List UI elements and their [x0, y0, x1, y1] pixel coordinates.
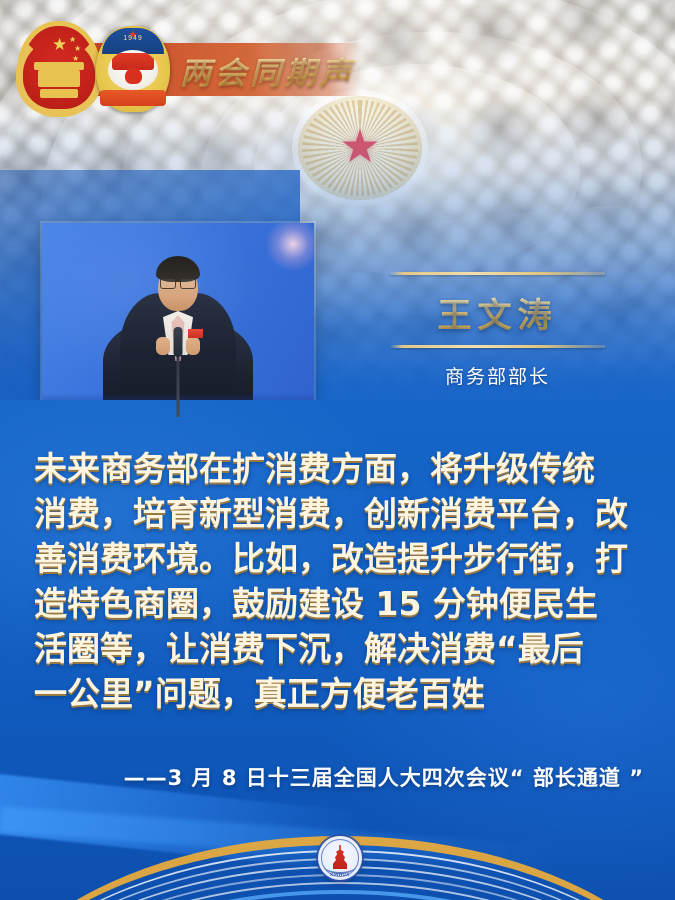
cppcc-emblem-icon: 1949: [96, 26, 170, 112]
banner-title: 两会同期声: [180, 48, 355, 93]
photo-glasses: [160, 278, 196, 287]
xinhua-logo-text: XINHUA: [318, 872, 362, 877]
national-emblem-icon: ★ ★ ★ ★ ★: [22, 26, 96, 112]
name-divider-bottom: [390, 345, 605, 348]
microphone-icon: [174, 327, 183, 357]
xinhua-logo-icon: XINHUA: [318, 836, 362, 880]
quote-line: 一公里”问题，真正方便老百姓: [34, 671, 644, 716]
quote-line: 活圈等，让消费下沉，解决消费“最后: [34, 626, 644, 671]
speaker-title: 商务部部长: [390, 362, 605, 389]
quote-line: 造特色商圈，鼓励建设 15 分钟便民生: [34, 581, 644, 626]
delegate-badge: [188, 329, 203, 338]
quote-line: 未来商务部在扩消费方面，将升级传统: [34, 446, 644, 491]
photo-right-hand: [186, 337, 200, 355]
quote-block: 未来商务部在扩消费方面，将升级传统 消费，培育新型消费，创新消费平台，改 善消费…: [34, 446, 644, 716]
quote-attribution: ——3 月 8 日十三届全国人大四次会议“ 部长通道 ”: [34, 762, 644, 792]
poster-root: ★ ★ ★ ★ ★ ★ 1949 两会同期声: [0, 0, 675, 900]
speaker-photo: [42, 223, 314, 417]
quote-line: 消费，培育新型消费，创新消费平台，改: [34, 491, 644, 536]
photo-left-hand: [156, 337, 170, 355]
speaker-name: 王文涛: [390, 288, 605, 337]
cppcc-emblem-year: 1949: [96, 35, 170, 42]
photo-lens-flare: [266, 223, 314, 271]
quote-line: 善消费环境。比如，改造提升步行街，打: [34, 536, 644, 581]
name-divider-top: [390, 272, 605, 275]
